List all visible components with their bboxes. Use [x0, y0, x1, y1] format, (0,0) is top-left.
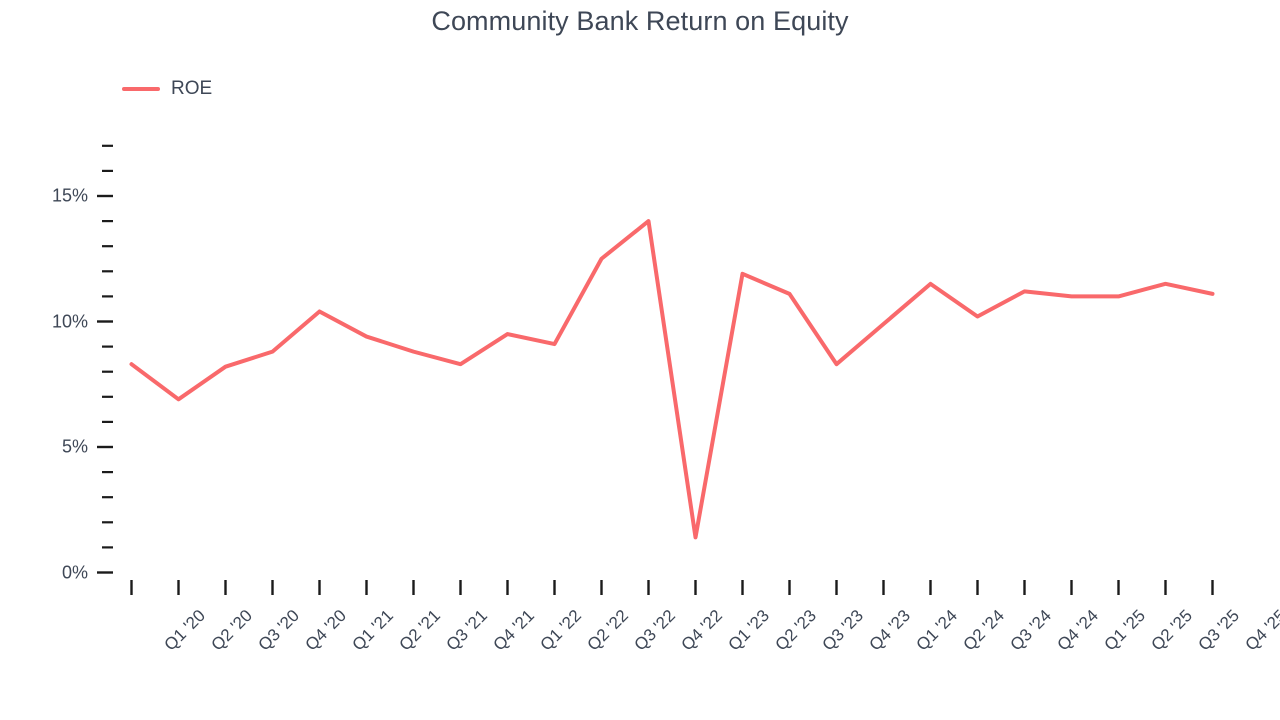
- x-axis-tick-label: Q1 '20: [160, 606, 209, 655]
- x-axis-tick-label: Q3 '21: [442, 606, 491, 655]
- x-axis-tick-label: Q2 '20: [207, 606, 256, 655]
- x-axis-tick-label: Q2 '23: [771, 606, 820, 655]
- x-axis-tick-label: Q4 '22: [677, 606, 726, 655]
- x-axis-tick-label: Q3 '24: [1006, 606, 1055, 655]
- x-axis-tick-label: Q3 '20: [254, 606, 303, 655]
- x-axis-tick-label: Q3 '22: [630, 606, 679, 655]
- x-axis-tick-label: Q2 '22: [583, 606, 632, 655]
- x-axis-tick-label: Q4 '21: [489, 606, 538, 655]
- x-axis-tick-label: Q4 '25: [1241, 606, 1280, 655]
- x-axis-tick-label: Q1 '25: [1100, 606, 1149, 655]
- x-axis-tick-label: Q4 '23: [865, 606, 914, 655]
- x-axis-tick-label: Q1 '22: [536, 606, 585, 655]
- x-axis-tick-label: Q4 '24: [1053, 606, 1102, 655]
- x-axis-tick-label: Q3 '25: [1194, 606, 1243, 655]
- x-axis-tick-label: Q3 '23: [818, 606, 867, 655]
- x-axis-tick-label: Q1 '21: [348, 606, 397, 655]
- x-axis-tick-label: Q2 '25: [1147, 606, 1196, 655]
- x-axis-tick-label: Q1 '24: [912, 606, 961, 655]
- x-axis-labels: Q1 '20Q2 '20Q3 '20Q4 '20Q1 '21Q2 '21Q3 '…: [0, 0, 1280, 720]
- x-axis-tick-label: Q2 '24: [959, 606, 1008, 655]
- x-axis-tick-label: Q1 '23: [724, 606, 773, 655]
- x-axis-tick-label: Q2 '21: [395, 606, 444, 655]
- x-axis-tick-label: Q4 '20: [301, 606, 350, 655]
- chart-container: Community Bank Return on Equity ROE 0%5%…: [0, 0, 1280, 720]
